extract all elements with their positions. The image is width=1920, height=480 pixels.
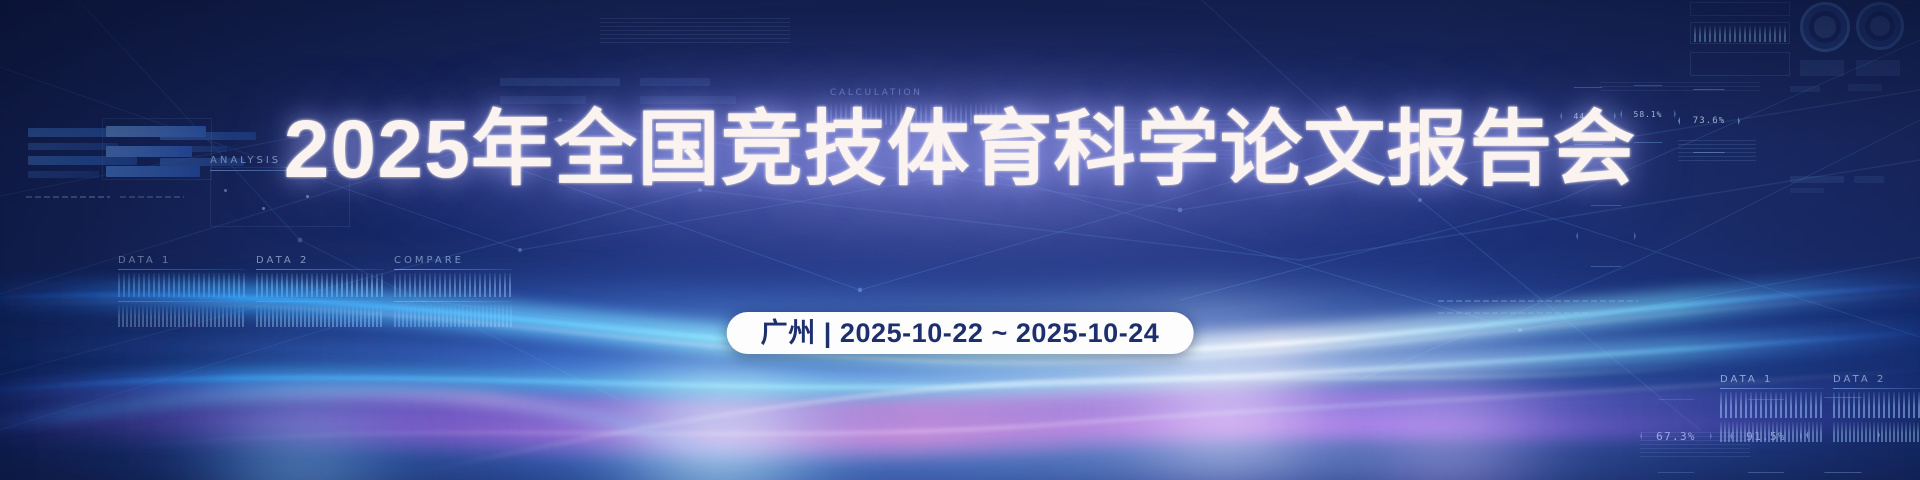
hud-microtext: [1600, 82, 1760, 92]
event-info-text: 广州 | 2025-10-22 ~ 2025-10-24: [761, 320, 1160, 347]
gauge-icon: [1800, 2, 1850, 52]
hud-bars: [1694, 26, 1786, 42]
hud-chip: [1848, 84, 1882, 91]
conference-banner: ANALYSIS CALCULATION DATA 1: [0, 0, 1920, 480]
hud-chip: [500, 78, 620, 86]
page-title: 2025年全国竞技体育科学论文报告会: [0, 105, 1920, 195]
hud-chip: [640, 78, 710, 86]
hud-wirebox: [1690, 2, 1790, 16]
hud-microtext: [600, 18, 790, 44]
hud-chip: [1790, 86, 1820, 92]
gauge-icon: [1856, 2, 1904, 50]
hud-chip: [1800, 60, 1844, 76]
calculation-label: CALCULATION: [830, 88, 1010, 98]
hud-chip: [500, 96, 586, 104]
hud-chip: [640, 96, 736, 104]
hud-chip: [1856, 60, 1900, 76]
event-info-pill: 广州 | 2025-10-22 ~ 2025-10-24: [727, 312, 1194, 354]
hud-wirebox: [1690, 52, 1790, 76]
hud-wirebox: [1690, 22, 1790, 44]
